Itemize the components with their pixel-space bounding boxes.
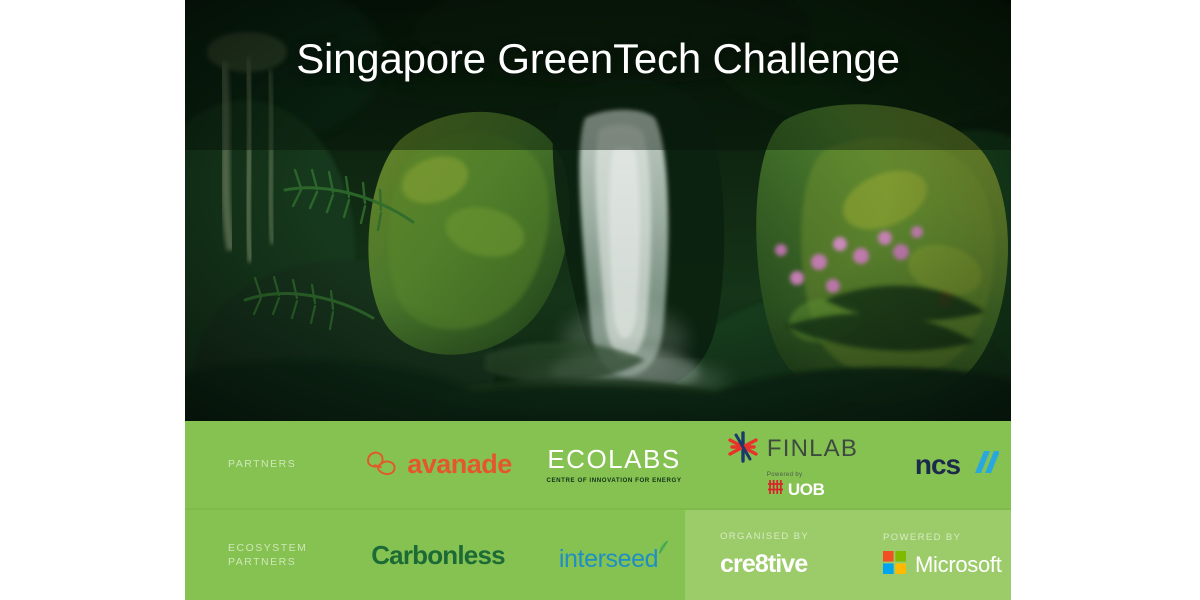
powered-by-kicker: POWERED BY bbox=[883, 532, 961, 543]
partners-band: PARTNERS av bbox=[185, 421, 1011, 508]
poster-card: Singapore GreenTech Challenge PARTNERS bbox=[185, 0, 1011, 600]
right-credits-panel: ORGANISED BY cre8tive POWERED BY bbox=[685, 510, 1011, 600]
hero-title: Singapore GreenTech Challenge bbox=[185, 36, 1011, 81]
ecosystem-label-line1: ECOSYSTEM bbox=[228, 541, 350, 555]
poster-canvas: Singapore GreenTech Challenge PARTNERS bbox=[0, 0, 1200, 600]
logo-interseed[interactable]: interseed bbox=[526, 538, 702, 572]
finlab-powered-by-label: Powered by bbox=[767, 472, 803, 478]
microsoft-wordmark: Microsoft bbox=[915, 552, 1002, 578]
organised-by-kicker: ORGANISED BY bbox=[720, 531, 809, 542]
ecosystem-label-line2: PARTNERS bbox=[228, 555, 350, 569]
uob-wordmark: UOB bbox=[788, 481, 825, 498]
ncs-slashes-icon bbox=[967, 449, 999, 480]
interseed-wordmark: interseed bbox=[559, 547, 658, 572]
ecosystem-partners-label: ECOSYSTEM PARTNERS bbox=[185, 541, 350, 569]
carbonless-wordmark: Carbonless bbox=[371, 540, 505, 571]
logo-carbonless[interactable]: Carbonless bbox=[350, 540, 526, 571]
cre8tive-wordmark: cre8tive bbox=[720, 550, 807, 579]
logo-avanade[interactable]: avanade bbox=[350, 449, 526, 481]
ecolabs-tagline: CENTRE OF INNOVATION FOR ENERGY bbox=[546, 477, 681, 484]
ncs-wordmark: ncs bbox=[915, 451, 960, 479]
microsoft-squares-icon bbox=[883, 551, 906, 579]
avanade-mark-icon bbox=[364, 449, 398, 481]
ecolabs-wordmark: ECOLABS bbox=[547, 446, 680, 472]
logo-ncs[interactable]: ncs bbox=[882, 449, 1011, 480]
hero-banner: Singapore GreenTech Challenge bbox=[185, 0, 1011, 421]
ecosystem-band: ECOSYSTEM PARTNERS Carbonless interseed bbox=[185, 510, 1011, 600]
finlab-wordmark: FINLAB bbox=[767, 437, 858, 461]
logo-ecolabs[interactable]: ECOLABS CENTRE OF INNOVATION FOR ENERGY bbox=[526, 446, 702, 484]
powered-by-cell[interactable]: POWERED BY Microsoft bbox=[848, 532, 1011, 579]
finlab-starburst-icon bbox=[726, 430, 760, 469]
logo-finlab[interactable]: FINLAB Powered by bbox=[702, 430, 882, 500]
avanade-wordmark: avanade bbox=[407, 449, 512, 480]
organised-by-cell[interactable]: ORGANISED BY cre8tive bbox=[685, 531, 848, 579]
leaf-sprout-icon bbox=[649, 538, 669, 563]
uob-bars-icon bbox=[767, 479, 784, 500]
partners-label: PARTNERS bbox=[185, 457, 350, 471]
